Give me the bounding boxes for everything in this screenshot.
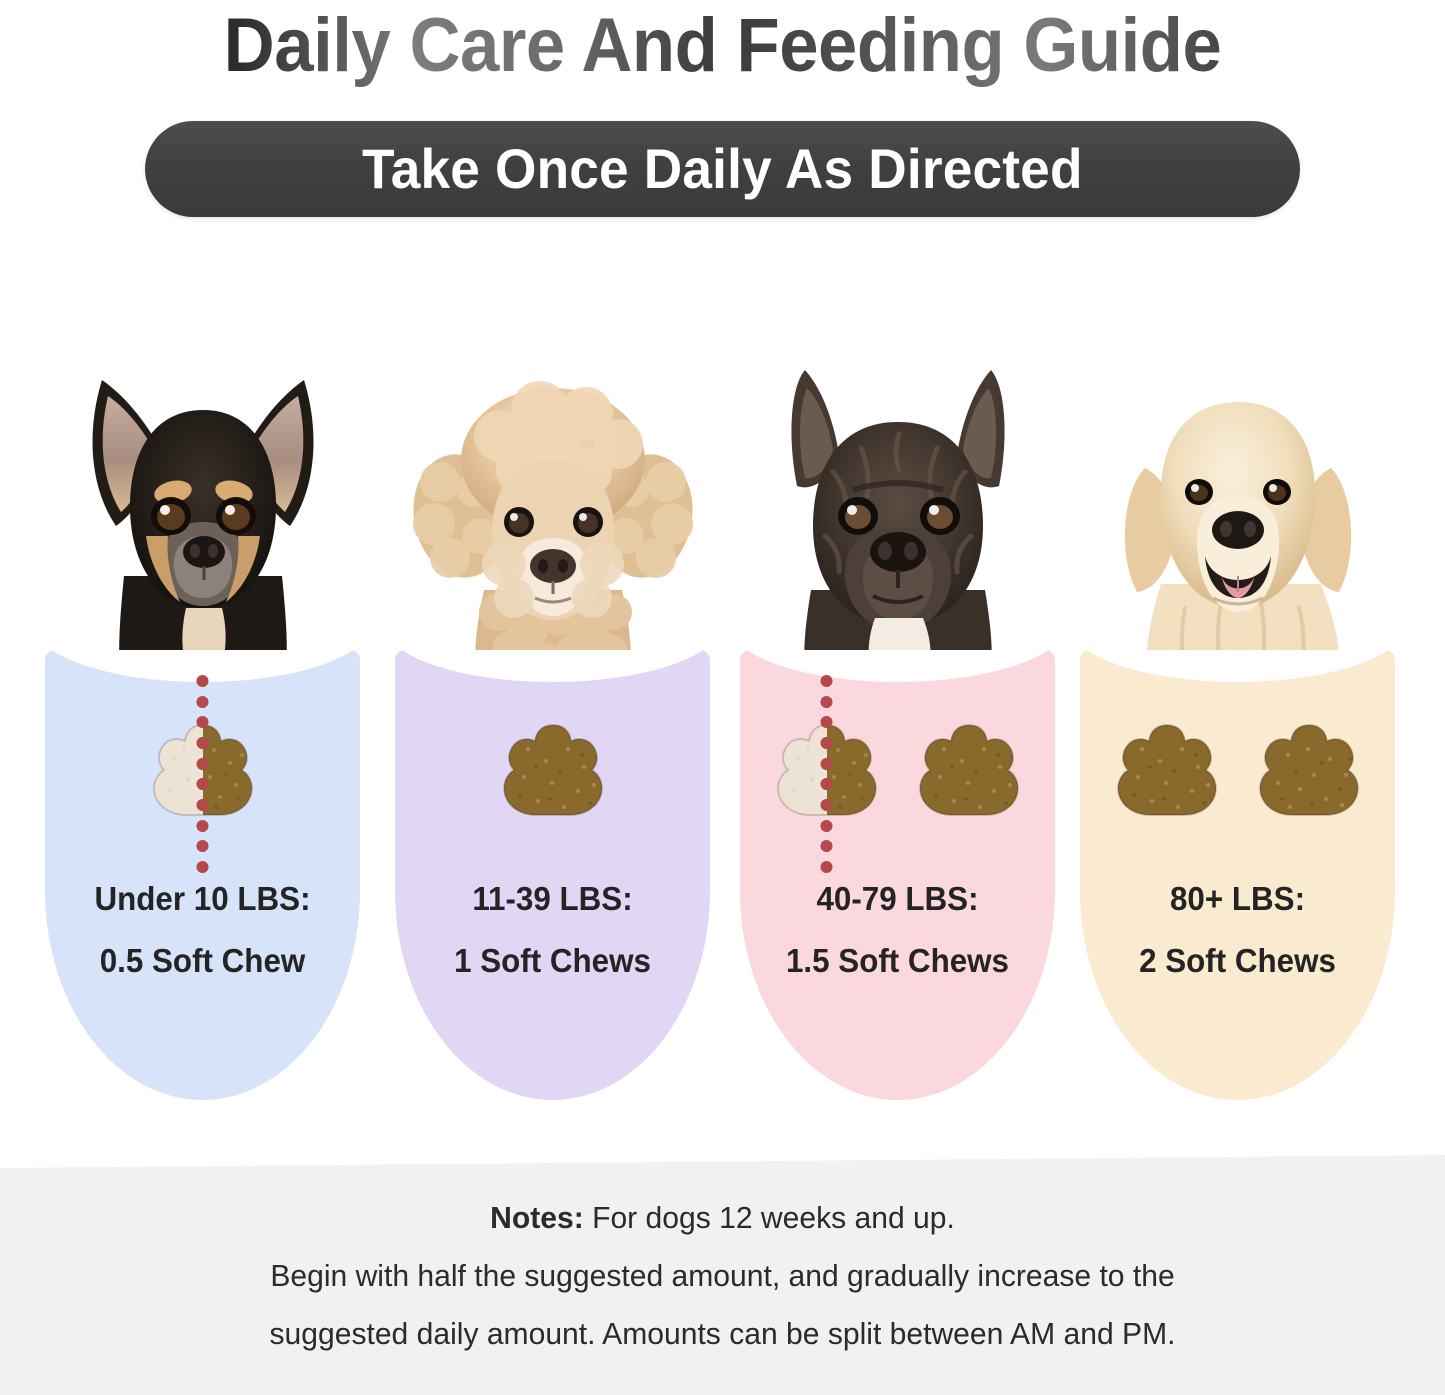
dose-amount-label: 0.5 Soft Chew xyxy=(53,930,352,992)
directions-banner-text: Take Once Daily As Directed xyxy=(362,139,1083,199)
chew-illustration-under-10-lbs xyxy=(45,694,360,854)
notes-label: Notes: xyxy=(490,1200,584,1235)
paw-chew-icon xyxy=(494,715,612,833)
dog-photo-poodle xyxy=(388,340,718,670)
dose-amount-label: 2 Soft Chews xyxy=(1088,930,1387,992)
notes-line-1-rest: For dogs 12 weeks and up. xyxy=(584,1200,955,1235)
chew-illustration-40-79-lbs xyxy=(740,694,1055,854)
chew-full xyxy=(1108,715,1226,833)
notes-line-2: Begin with half the suggested amount, an… xyxy=(22,1247,1424,1305)
chew-half xyxy=(144,715,262,833)
pouch-11-39-lbs: 11-39 LBS: 1 Soft Chews xyxy=(395,650,710,1100)
dosage-card-80-plus-lbs[interactable]: 80+ LBS: 2 Soft Chews xyxy=(1080,290,1395,1100)
dosage-card-list: Under 10 LBS: 0.5 Soft Chew xyxy=(0,290,1445,1100)
weight-range-label: 40-79 LBS: xyxy=(816,880,978,917)
paw-chew-icon xyxy=(1250,715,1368,833)
weight-range-label: 11-39 LBS: xyxy=(472,880,632,917)
pouch-40-79-lbs: 40-79 LBS: 1.5 Soft Chews xyxy=(740,650,1055,1100)
feeding-guide-page: Daily Care And Feeding Guide Take Once D… xyxy=(0,0,1445,1395)
chew-half xyxy=(768,715,886,833)
notes-line-1: Notes: For dogs 12 weeks and up. xyxy=(22,1189,1424,1247)
dose-amount-label: 1.5 Soft Chews xyxy=(748,930,1047,992)
paw-chew-icon xyxy=(144,715,262,833)
pouch-80-plus-lbs: 80+ LBS: 2 Soft Chews xyxy=(1080,650,1395,1100)
pouch-lip xyxy=(740,650,1055,682)
dosage-card-40-79-lbs[interactable]: 40-79 LBS: 1.5 Soft Chews xyxy=(740,290,1055,1100)
pouch-lip xyxy=(45,650,360,682)
dose-amount-label: 1 Soft Chews xyxy=(403,930,702,992)
paw-chew-icon xyxy=(768,715,886,833)
pouch-lip xyxy=(395,650,710,682)
notes-text-block: Notes: For dogs 12 weeks and up. Begin w… xyxy=(22,1189,1424,1363)
paw-chew-icon xyxy=(1108,715,1226,833)
notes-line-3: suggested daily amount. Amounts can be s… xyxy=(22,1305,1424,1363)
dosage-card-11-39-lbs[interactable]: 11-39 LBS: 1 Soft Chews xyxy=(395,290,710,1100)
weight-range-label: Under 10 LBS: xyxy=(94,880,310,917)
chew-illustration-80-plus-lbs xyxy=(1080,694,1395,854)
weight-range-label: 80+ LBS: xyxy=(1170,880,1305,917)
pouch-under-10-lbs: Under 10 LBS: 0.5 Soft Chew xyxy=(45,650,360,1100)
dog-photo-chihuahua xyxy=(38,340,368,670)
dosage-label-under-10-lbs: Under 10 LBS: 0.5 Soft Chew xyxy=(53,868,352,992)
dog-photo-french-bulldog xyxy=(733,340,1063,670)
page-title: Daily Care And Feeding Guide xyxy=(51,4,1395,88)
directions-banner: Take Once Daily As Directed xyxy=(145,121,1300,217)
paw-chew-icon xyxy=(910,715,1028,833)
chew-full xyxy=(494,715,612,833)
chew-full xyxy=(1250,715,1368,833)
dosage-label-80-plus-lbs: 80+ LBS: 2 Soft Chews xyxy=(1088,868,1387,992)
dosage-card-under-10-lbs[interactable]: Under 10 LBS: 0.5 Soft Chew xyxy=(45,290,360,1100)
pouch-lip xyxy=(1080,650,1395,682)
chew-full xyxy=(910,715,1028,833)
dog-photo-golden-retriever xyxy=(1073,340,1403,670)
dosage-label-11-39-lbs: 11-39 LBS: 1 Soft Chews xyxy=(403,868,702,992)
notes-footer: Notes: For dogs 12 weeks and up. Begin w… xyxy=(0,1155,1445,1395)
dosage-label-40-79-lbs: 40-79 LBS: 1.5 Soft Chews xyxy=(748,868,1047,992)
chew-illustration-11-39-lbs xyxy=(395,694,710,854)
